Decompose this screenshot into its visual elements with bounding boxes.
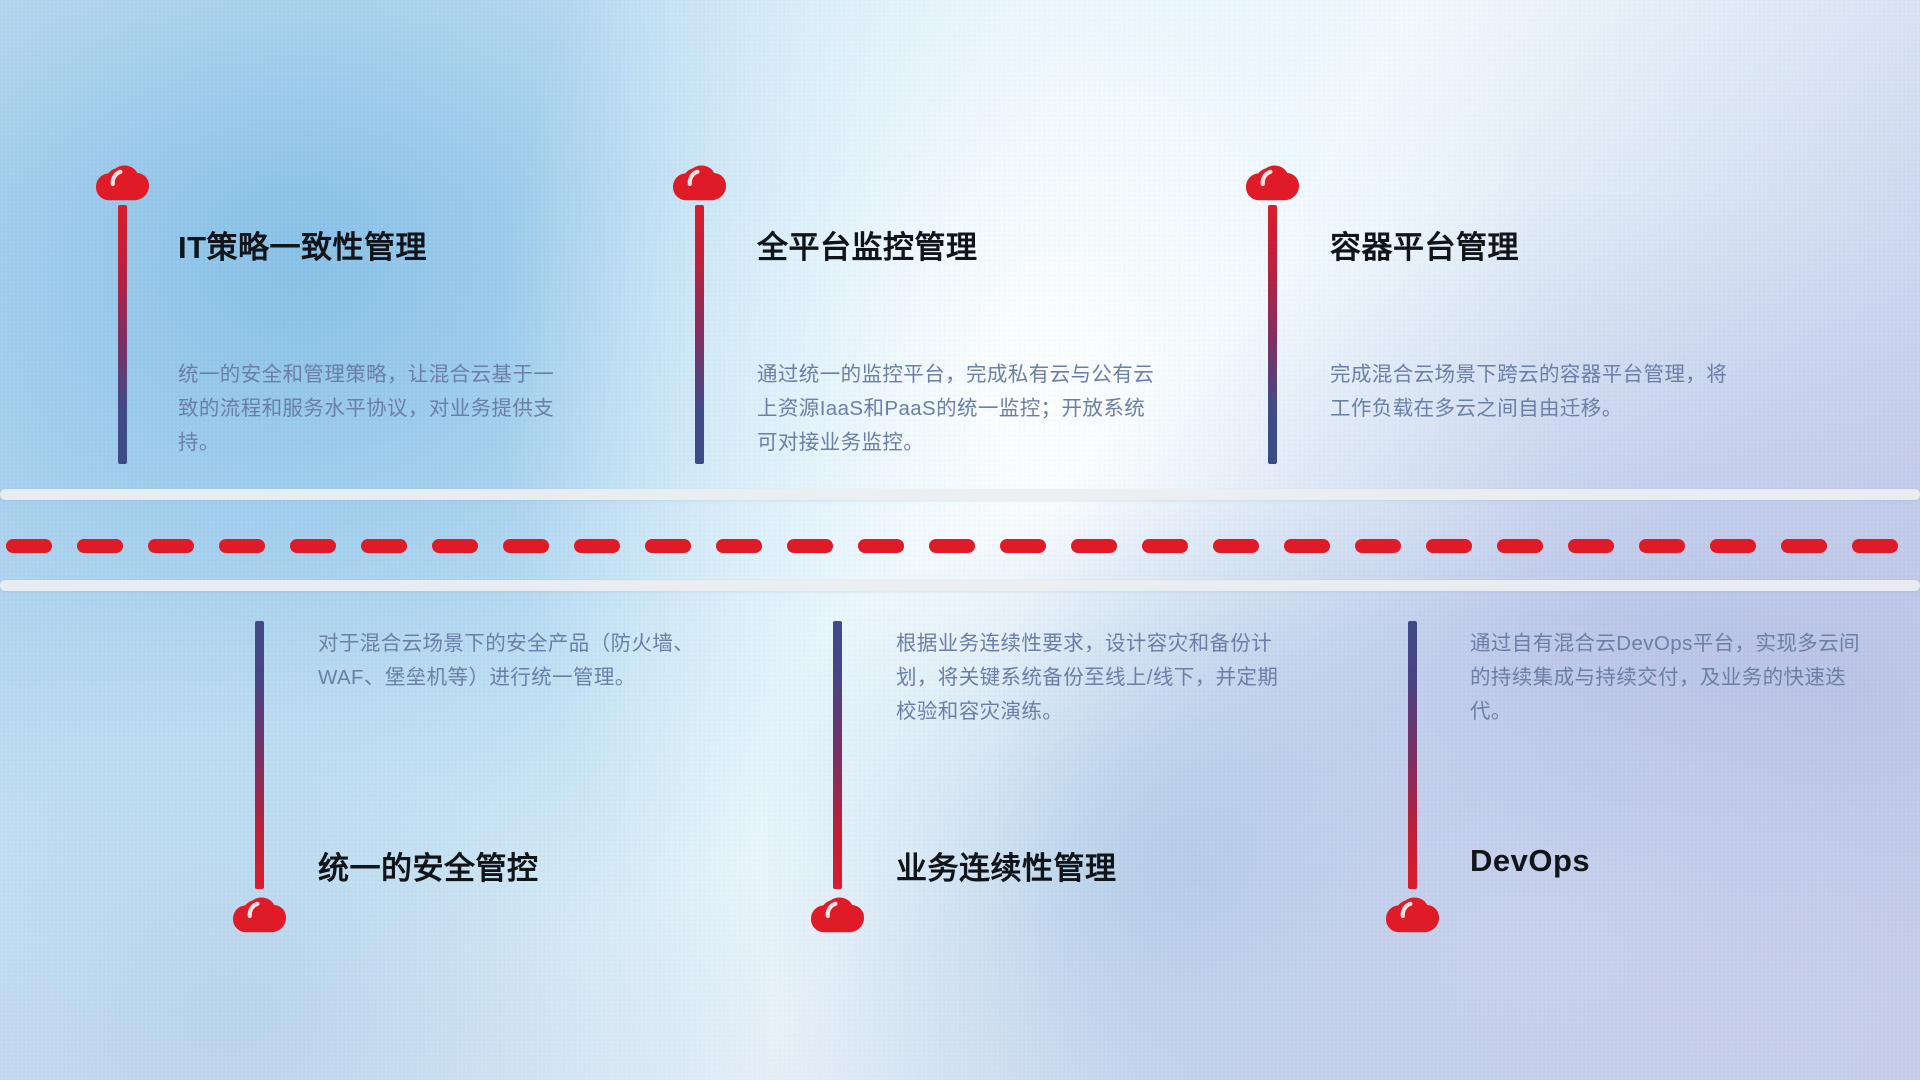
road-dash: [716, 539, 762, 553]
road-dash: [219, 539, 265, 553]
road-dash: [1639, 539, 1685, 553]
road-dash: [290, 539, 336, 553]
road-center-dashes: [0, 539, 1920, 553]
feature-description: 通过自有混合云DevOps平台，实现多云间的持续集成与持续交付，及业务的快速迭代…: [1470, 627, 1870, 729]
road-dash: [929, 539, 975, 553]
cloud-icon: [232, 894, 288, 944]
bottom-row: 对于混合云场景下的安全产品（防火墙、WAF、堡垒机等）进行统一管理。 统一的安全…: [0, 591, 1920, 1080]
road-edge-bottom: [0, 580, 1920, 591]
road-dash: [574, 539, 620, 553]
road-dash: [503, 539, 549, 553]
feature-description: 统一的安全和管理策略，让混合云基于一致的流程和服务水平协议，对业务提供支持。: [178, 358, 558, 460]
road-edge-top: [0, 489, 1920, 500]
feature-description: 对于混合云场景下的安全产品（防火墙、WAF、堡垒机等）进行统一管理。: [318, 627, 698, 695]
road-dash: [1852, 539, 1898, 553]
top-row: IT策略一致性管理 统一的安全和管理策略，让混合云基于一致的流程和服务水平协议，…: [0, 0, 1920, 489]
feature-title: IT策略一致性管理: [178, 222, 427, 267]
road-divider: [0, 489, 1920, 591]
connector-stem: [1268, 205, 1277, 464]
road-dash: [361, 539, 407, 553]
feature-title: 业务连续性管理: [896, 843, 1117, 888]
road-dash: [432, 539, 478, 553]
road-dash: [858, 539, 904, 553]
road-dash: [1284, 539, 1330, 553]
feature-title: DevOps: [1470, 843, 1590, 879]
road-dash: [6, 539, 52, 553]
connector-stem: [833, 621, 842, 889]
feature-description: 完成混合云场景下跨云的容器平台管理，将工作负载在多云之间自由迁移。: [1330, 358, 1730, 426]
connector-stem: [118, 205, 127, 464]
road-dash: [1355, 539, 1401, 553]
road-dash: [787, 539, 833, 553]
connector-stem: [255, 621, 264, 889]
cloud-icon: [810, 894, 866, 944]
feature-title: 容器平台管理: [1330, 222, 1519, 267]
road-dash: [1710, 539, 1756, 553]
connector-stem: [695, 205, 704, 464]
road-dash: [1426, 539, 1472, 553]
road-dash: [1568, 539, 1614, 553]
connector-stem: [1408, 621, 1417, 889]
feature-description: 通过统一的监控平台，完成私有云与公有云上资源IaaS和PaaS的统一监控；开放系…: [757, 358, 1157, 460]
road-dash: [1142, 539, 1188, 553]
feature-description: 根据业务连续性要求，设计容灾和备份计划，将关键系统备份至线上/线下，并定期校验和…: [896, 627, 1296, 729]
road-dash: [1000, 539, 1046, 553]
road-dash: [645, 539, 691, 553]
road-dash: [77, 539, 123, 553]
road-dash: [148, 539, 194, 553]
feature-title: 全平台监控管理: [757, 222, 978, 267]
road-dash: [1781, 539, 1827, 553]
cloud-icon: [1385, 894, 1441, 944]
road-dash: [1213, 539, 1259, 553]
feature-title: 统一的安全管控: [318, 843, 539, 888]
road-dash: [1497, 539, 1543, 553]
road-dash: [1071, 539, 1117, 553]
